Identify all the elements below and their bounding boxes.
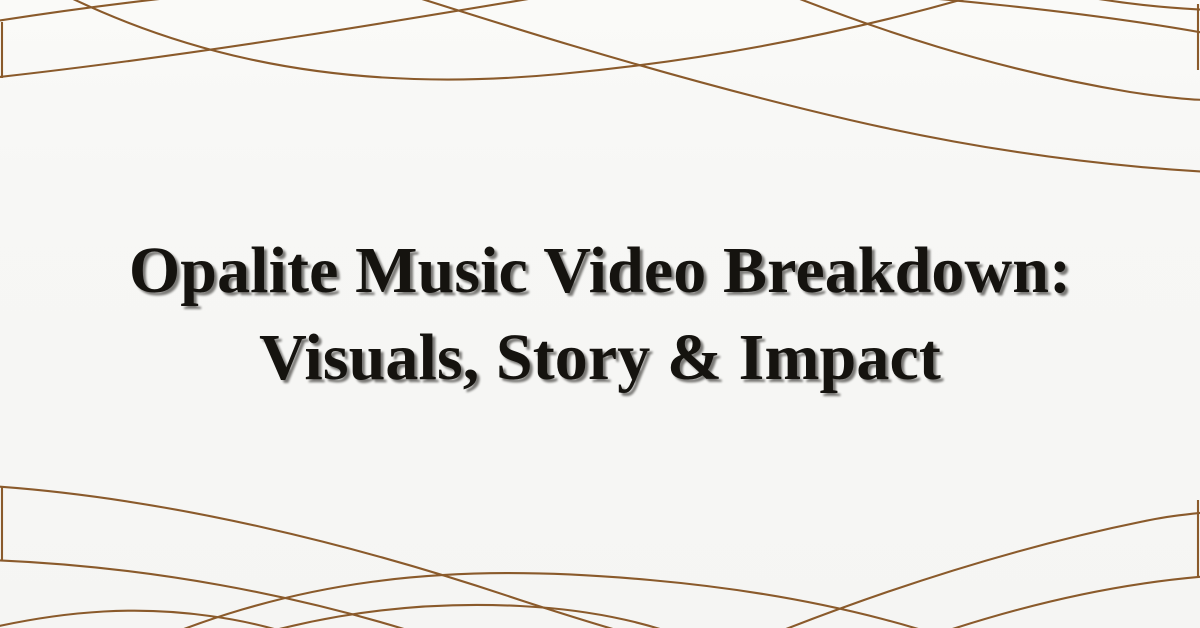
title-container: Opalite Music Video Breakdown: Visuals, … <box>0 0 1200 628</box>
title-banner: Opalite Music Video Breakdown: Visuals, … <box>0 0 1200 628</box>
page-title: Opalite Music Video Breakdown: Visuals, … <box>110 227 1090 401</box>
